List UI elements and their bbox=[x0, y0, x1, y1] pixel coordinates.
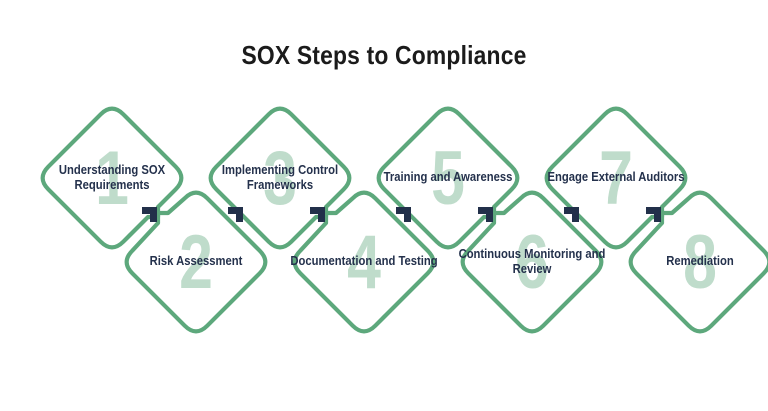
step-connector bbox=[224, 205, 254, 235]
diagram-stage: 1Understanding SOX Requirements2Risk Ass… bbox=[0, 0, 768, 411]
step-label-text: Documentation and Testing bbox=[287, 254, 442, 269]
step-label-text: Risk Assessment bbox=[146, 254, 246, 269]
connector-bracket bbox=[646, 207, 661, 222]
step-connector bbox=[474, 205, 504, 235]
infographic-canvas: SOX Steps to Compliance 1Understanding S… bbox=[0, 0, 768, 411]
connector-bracket bbox=[478, 207, 493, 222]
connector-shape bbox=[306, 205, 336, 235]
connector-bracket bbox=[310, 207, 325, 222]
step-label-text: Engage External Auditors bbox=[544, 170, 688, 185]
connector-bracket bbox=[228, 207, 243, 222]
step-label-text: Training and Awareness bbox=[380, 170, 516, 185]
connector-shape bbox=[560, 205, 590, 235]
connector-shape bbox=[138, 205, 168, 235]
step-connector bbox=[138, 205, 168, 235]
connector-shape bbox=[642, 205, 672, 235]
connector-bracket bbox=[142, 207, 157, 222]
step-connector bbox=[642, 205, 672, 235]
step-connector bbox=[392, 205, 422, 235]
step-connector bbox=[306, 205, 336, 235]
step-label-text: Remediation bbox=[663, 254, 738, 269]
connector-bracket bbox=[564, 207, 579, 222]
connector-shape bbox=[474, 205, 504, 235]
step-connector bbox=[560, 205, 590, 235]
connector-shape bbox=[224, 205, 254, 235]
connector-bracket bbox=[396, 207, 411, 222]
connector-shape bbox=[392, 205, 422, 235]
